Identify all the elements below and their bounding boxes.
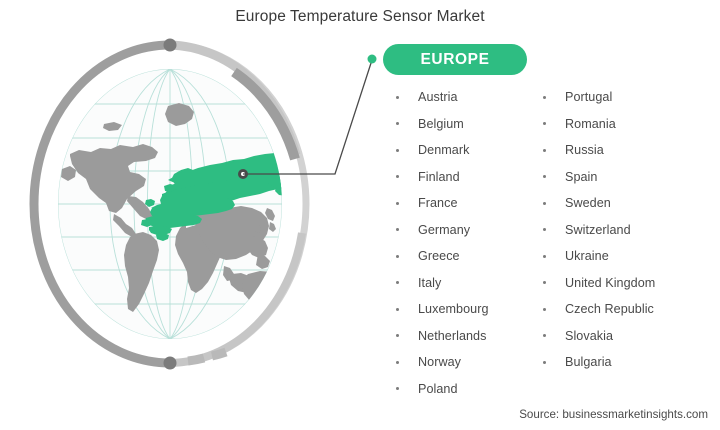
bullet-icon [396, 96, 406, 99]
country-name: Norway [418, 355, 461, 369]
bullet-icon [543, 122, 553, 125]
country-name: United Kingdom [565, 276, 655, 290]
country-name: Denmark [418, 143, 469, 157]
country-name: Ukraine [565, 249, 609, 263]
bullet-icon [543, 149, 553, 152]
country-list-item: Germany [396, 217, 546, 244]
country-list-item: France [396, 190, 546, 217]
country-name: Russia [565, 143, 604, 157]
bullet-icon [396, 255, 406, 258]
country-name: Slovakia [565, 329, 613, 343]
infographic-canvas: Europe Temperature Sensor Market [0, 0, 720, 430]
country-list-item: Finland [396, 164, 546, 191]
country-list-item: Luxembourg [396, 296, 546, 323]
country-name: Greece [418, 249, 460, 263]
country-name: Portugal [565, 90, 612, 104]
country-list-item: Russia [543, 137, 718, 164]
bullet-icon [543, 175, 553, 178]
ring-top-dot-icon [164, 39, 177, 52]
country-name: Bulgaria [565, 355, 612, 369]
country-name: Switzerland [565, 223, 631, 237]
bullet-icon [396, 228, 406, 231]
country-name: Romania [565, 117, 616, 131]
country-list-left: AustriaBelgiumDenmarkFinlandFranceGerman… [396, 84, 546, 402]
country-name: Sweden [565, 196, 611, 210]
page-title: Europe Temperature Sensor Market [0, 8, 720, 26]
bullet-icon [396, 175, 406, 178]
country-list-item: Italy [396, 270, 546, 297]
bullet-icon [543, 308, 553, 311]
country-list-item: Czech Republic [543, 296, 718, 323]
country-list-item: Bulgaria [543, 349, 718, 376]
bullet-icon [543, 228, 553, 231]
source-attribution: Source: businessmarketinsights.com [519, 408, 708, 421]
country-name: Belgium [418, 117, 464, 131]
country-list-item: Portugal [543, 84, 718, 111]
country-list-item: Slovakia [543, 323, 718, 350]
country-name: Poland [418, 382, 458, 396]
country-list-item: Sweden [543, 190, 718, 217]
bullet-icon [543, 202, 553, 205]
country-list-item: Romania [543, 111, 718, 138]
bullet-icon [396, 281, 406, 284]
country-list-item: Switzerland [543, 217, 718, 244]
country-name: Luxembourg [418, 302, 489, 316]
country-name: Spain [565, 170, 597, 184]
country-list-item: Belgium [396, 111, 546, 138]
country-name: Czech Republic [565, 302, 654, 316]
country-list-item: Norway [396, 349, 546, 376]
ring-bottom-dot-icon [164, 357, 177, 370]
bullet-icon [396, 387, 406, 390]
bullet-icon [543, 361, 553, 364]
country-name: Italy [418, 276, 441, 290]
country-list-item: United Kingdom [543, 270, 718, 297]
bullet-icon [543, 334, 553, 337]
bullet-icon [543, 96, 553, 99]
bullet-icon [396, 202, 406, 205]
country-list-item: Greece [396, 243, 546, 270]
country-list-item: Austria [396, 84, 546, 111]
country-list-right: PortugalRomaniaRussiaSpainSwedenSwitzerl… [543, 84, 718, 376]
badge-anchor-dot-icon [368, 55, 377, 64]
country-name: Germany [418, 223, 470, 237]
country-list-item: Netherlands [396, 323, 546, 350]
bullet-icon [543, 255, 553, 258]
region-badge-label: EUROPE [420, 51, 489, 69]
bullet-icon [396, 149, 406, 152]
globe-icon [18, 28, 348, 378]
country-name: Finland [418, 170, 460, 184]
country-name: Netherlands [418, 329, 486, 343]
bullet-icon [396, 308, 406, 311]
country-name: Austria [418, 90, 458, 104]
bullet-icon [396, 361, 406, 364]
map-pointer-dot-center [241, 172, 245, 176]
country-list-item: Spain [543, 164, 718, 191]
globe-illustration [18, 28, 348, 378]
bullet-icon [396, 334, 406, 337]
region-badge-europe[interactable]: EUROPE [383, 44, 527, 75]
country-list-item: Ukraine [543, 243, 718, 270]
country-name: France [418, 196, 458, 210]
country-list-item: Poland [396, 376, 546, 403]
bullet-icon [396, 122, 406, 125]
country-list-item: Denmark [396, 137, 546, 164]
bullet-icon [543, 281, 553, 284]
